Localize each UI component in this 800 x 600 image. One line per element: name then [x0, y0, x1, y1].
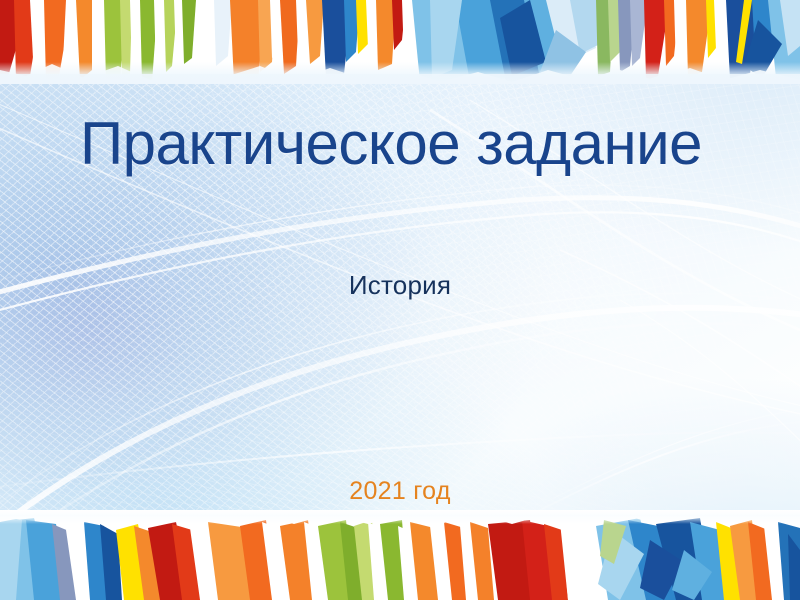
slide-year: 2021 год — [0, 477, 800, 506]
slide-subtitle: История — [0, 270, 800, 301]
slide-title: Практическое задание — [80, 112, 760, 175]
bottom-decorative-band — [0, 510, 800, 600]
top-decorative-band — [0, 0, 800, 84]
presentation-slide: Практическое задание История 2021 год — [0, 0, 800, 600]
